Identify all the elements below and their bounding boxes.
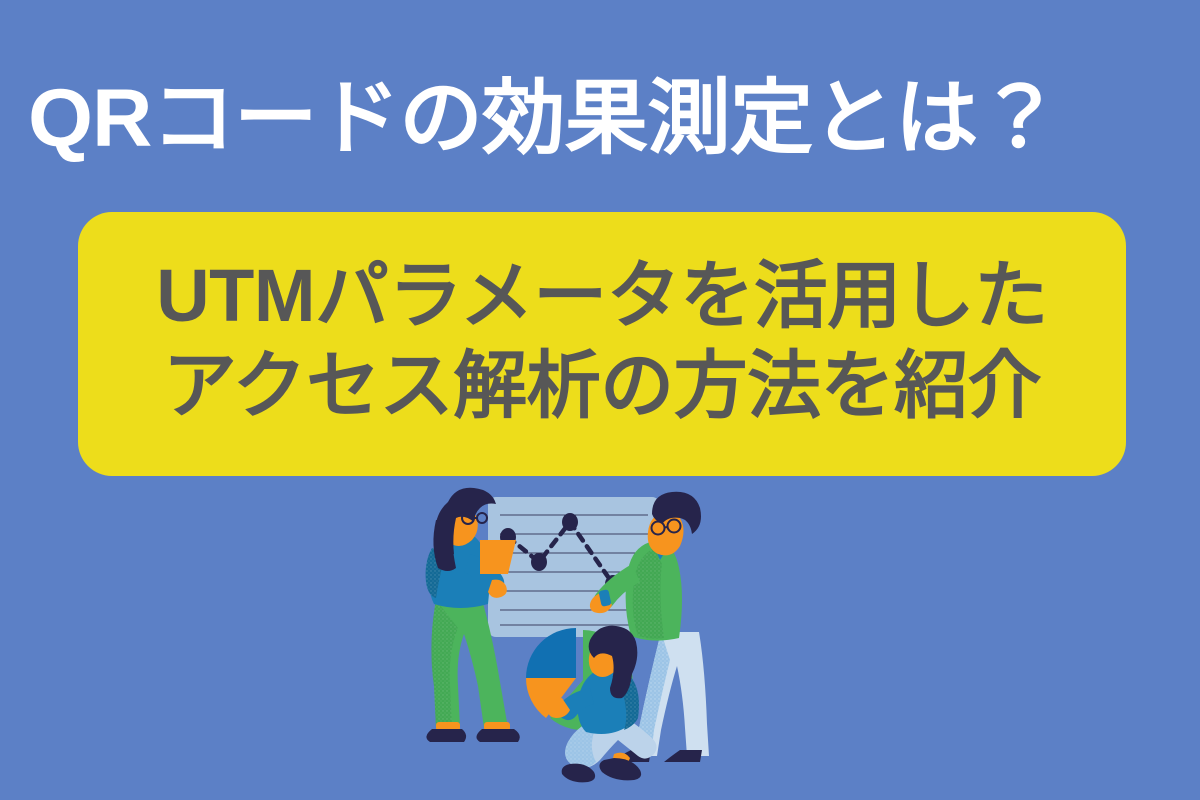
header-banner: QRコードの効果測定とは？ UTMパラメータを活用した アクセス解析の方法を紹介 bbox=[0, 0, 1200, 800]
shoe-right bbox=[664, 750, 702, 762]
subtitle-line-2: アクセス解析の方法を紹介 bbox=[163, 341, 1041, 431]
illustration-team-analyzing-data bbox=[418, 482, 784, 800]
subtitle-panel: UTMパラメータを活用した アクセス解析の方法を紹介 bbox=[78, 212, 1126, 476]
shoe-right bbox=[476, 729, 519, 742]
page-title: QRコードの効果測定とは？ bbox=[28, 78, 1195, 160]
shoe-left bbox=[426, 729, 466, 742]
subtitle-line-1: UTMパラメータを活用した bbox=[156, 251, 1048, 341]
